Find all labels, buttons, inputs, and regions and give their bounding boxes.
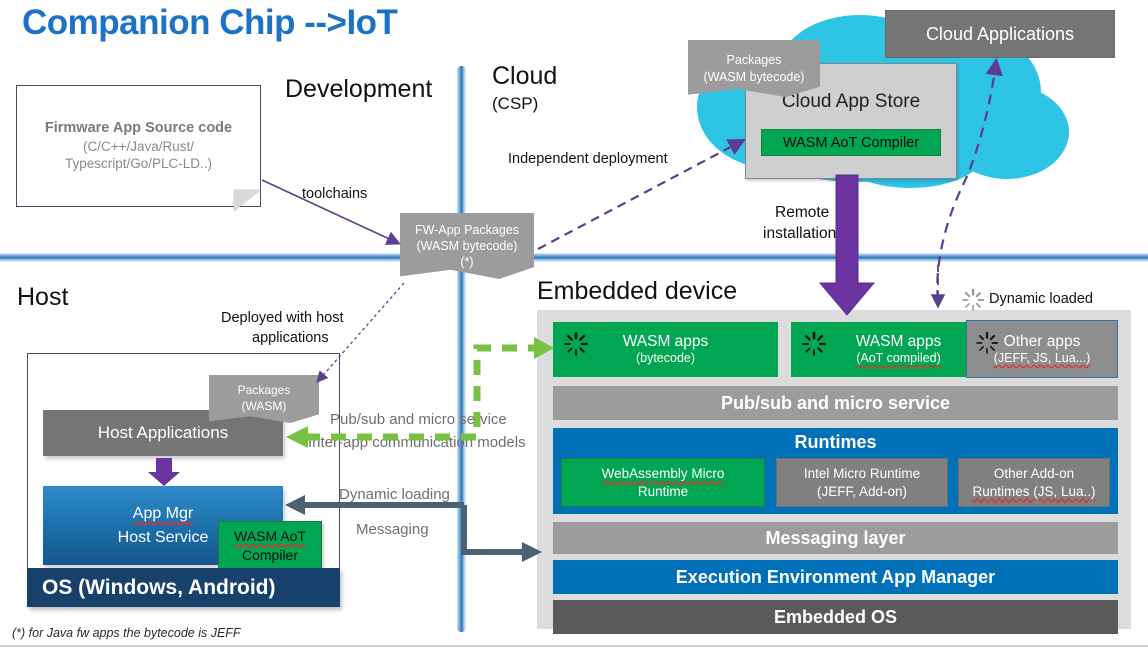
annotation-dynamic-loading: Dynamic loading xyxy=(339,486,450,503)
annotation-inter-app: Inter-app communication models xyxy=(308,434,526,451)
fw-app-packages-line2: (WASM bytecode) xyxy=(417,238,518,254)
annotation-toolchains: toolchains xyxy=(302,186,367,202)
embedded-runtime-0-l2: Runtime xyxy=(638,484,688,499)
spinner-burst-icon xyxy=(975,331,999,355)
host-aot-line2: Compiler xyxy=(242,546,298,564)
arrow-remote-installation xyxy=(820,175,874,315)
embedded-runtime-2: Other Add-on Runtimes (JS, Lua..) xyxy=(958,458,1110,507)
host-aot-compiler-box: WASM AoT Compiler xyxy=(218,521,322,570)
dynamic-loaded-legend-label: Dynamic loaded xyxy=(989,291,1093,307)
embedded-app-manager-bar: Execution Environment App Manager xyxy=(553,560,1118,594)
annotation-remote-l1: Remote xyxy=(775,204,829,222)
footnote: (*) for Java fw apps the bytecode is JEF… xyxy=(12,626,241,640)
embedded-runtimes-block: Runtimes WebAssembly Micro Runtime Intel… xyxy=(553,428,1118,514)
spinner-burst-icon xyxy=(801,331,827,357)
annotation-deployed-l1: Deployed with host xyxy=(221,310,344,326)
cloud-packages-callout: Packages (WASM bytecode) xyxy=(688,40,820,97)
cloud-packages-line1: Packages xyxy=(727,52,782,68)
host-packages-line1: Packages xyxy=(238,383,291,399)
spinner-burst-icon xyxy=(563,331,589,357)
page-title: Companion Chip -->IoT xyxy=(22,3,397,43)
embedded-app-0: WASM apps (bytecode) xyxy=(553,322,778,377)
section-heading-cloud: Cloud xyxy=(492,62,557,91)
embedded-runtime-0: WebAssembly Micro Runtime xyxy=(561,458,765,507)
app-mgr-text: App Mgr xyxy=(133,505,193,522)
cloud-aot-compiler-text: WASM AoT Compiler xyxy=(783,135,919,151)
diagram-canvas: Companion Chip -->IoT Development Cloud … xyxy=(0,0,1148,653)
host-os-label: OS (Windows, Android) xyxy=(42,576,276,600)
fw-app-packages-line1: FW-App Packages xyxy=(415,222,519,238)
embedded-app-2-sub-text: (JEFF, JS, Lua...) xyxy=(994,351,1091,365)
embedded-runtime-0-l1: WebAssembly Micro xyxy=(602,466,725,481)
fw-app-packages-callout: FW-App Packages (WASM bytecode) (*) xyxy=(400,213,534,279)
host-packages-line2: (WASM) xyxy=(242,399,287,415)
host-packages-callout: Packages (WASM) xyxy=(209,375,319,423)
embedded-runtime-1-l1: Intel Micro Runtime xyxy=(804,466,920,481)
embedded-app-2-sub: (JEFF, JS, Lua...) xyxy=(994,351,1091,367)
annotation-messaging: Messaging xyxy=(356,521,429,538)
firmware-source-tail xyxy=(234,190,260,211)
embedded-messaging-label: Messaging layer xyxy=(765,528,905,549)
embedded-os-label: Embedded OS xyxy=(774,607,897,628)
embedded-runtimes-title: Runtimes xyxy=(553,432,1118,453)
embedded-runtime-2-l2-text: Runtimes (JS, Lua..) xyxy=(972,484,1095,499)
section-heading-host: Host xyxy=(17,283,68,312)
horizontal-divider xyxy=(0,253,1148,262)
cloud-aot-compiler-box: WASM AoT Compiler xyxy=(761,129,941,156)
embedded-app-0-sub: (bytecode) xyxy=(623,351,709,367)
embedded-messaging-bar: Messaging layer xyxy=(553,522,1118,554)
app-mgr-line2: Host Service xyxy=(118,526,209,549)
embedded-runtime-0-l1-text: WebAssembly Micro xyxy=(602,466,725,481)
cloud-aot-compiler-label: WASM AoT Compiler xyxy=(783,135,919,151)
section-heading-development: Development xyxy=(285,75,432,104)
app-mgr-line1: App Mgr xyxy=(133,502,193,525)
host-applications-box: Host Applications xyxy=(43,410,283,456)
embedded-runtime-1-l2: (JEFF, Add-on) xyxy=(817,484,907,499)
firmware-source-line1: (C/C++/Java/Rust/ xyxy=(83,138,194,155)
firmware-source-box: Firmware App Source code (C/C++/Java/Rus… xyxy=(16,85,261,207)
embedded-runtime-1: Intel Micro Runtime (JEFF, Add-on) xyxy=(776,458,948,507)
annotation-deployed-l2: applications xyxy=(252,330,329,346)
embedded-app-2: Other apps (JEFF, JS, Lua...) xyxy=(966,320,1118,378)
fw-app-packages-line3: (*) xyxy=(460,254,473,270)
host-aot-text: WASM AoT xyxy=(234,528,306,544)
embedded-pubsub-bar: Pub/sub and micro service xyxy=(553,386,1118,420)
embedded-runtime-2-l1: Other Add-on xyxy=(994,466,1074,481)
embedded-os-bar: Embedded OS xyxy=(553,600,1118,634)
bottom-rule xyxy=(0,645,1148,647)
footnote-text: (*) for Java fw apps the bytecode is JEF… xyxy=(12,626,241,640)
section-heading-embedded: Embedded device xyxy=(537,277,737,306)
vertical-divider xyxy=(457,66,466,632)
embedded-device-panel: WASM apps (bytecode) xyxy=(537,310,1131,629)
spinner-burst-icon xyxy=(961,288,985,312)
cloud-applications-label: Cloud Applications xyxy=(926,24,1074,45)
embedded-app-1-sub: (AoT compiled) xyxy=(856,351,942,367)
annotation-pubsub-micro: Pub/sub and micro service xyxy=(330,411,507,428)
cloud-applications-box: Cloud Applications xyxy=(885,10,1115,58)
host-os-bar: OS (Windows, Android) xyxy=(27,568,340,607)
embedded-app-2-name: Other apps xyxy=(994,332,1091,351)
embedded-app-0-name: WASM apps xyxy=(623,332,709,351)
embedded-app-1-name: WASM apps xyxy=(856,332,942,351)
embedded-runtime-2-l2: Runtimes (JS, Lua..) xyxy=(972,484,1095,499)
embedded-app-manager-label: Execution Environment App Manager xyxy=(676,567,995,588)
host-aot-line1: WASM AoT xyxy=(234,527,306,545)
cloud-packages-line2: (WASM bytecode) xyxy=(704,69,805,85)
host-applications-label: Host Applications xyxy=(98,423,228,443)
annotation-independent-deployment: Independent deployment xyxy=(508,151,668,167)
firmware-source-heading: Firmware App Source code xyxy=(45,119,232,138)
section-sub-cloud: (CSP) xyxy=(492,94,538,114)
embedded-app-1-sub-text: (AoT compiled) xyxy=(856,351,941,365)
annotation-remote-l2: installation xyxy=(763,225,836,243)
arrow-messaging xyxy=(464,505,542,562)
firmware-source-line2: Typescript/Go/PLC-LD..) xyxy=(65,155,212,172)
embedded-pubsub-label: Pub/sub and micro service xyxy=(721,393,950,414)
